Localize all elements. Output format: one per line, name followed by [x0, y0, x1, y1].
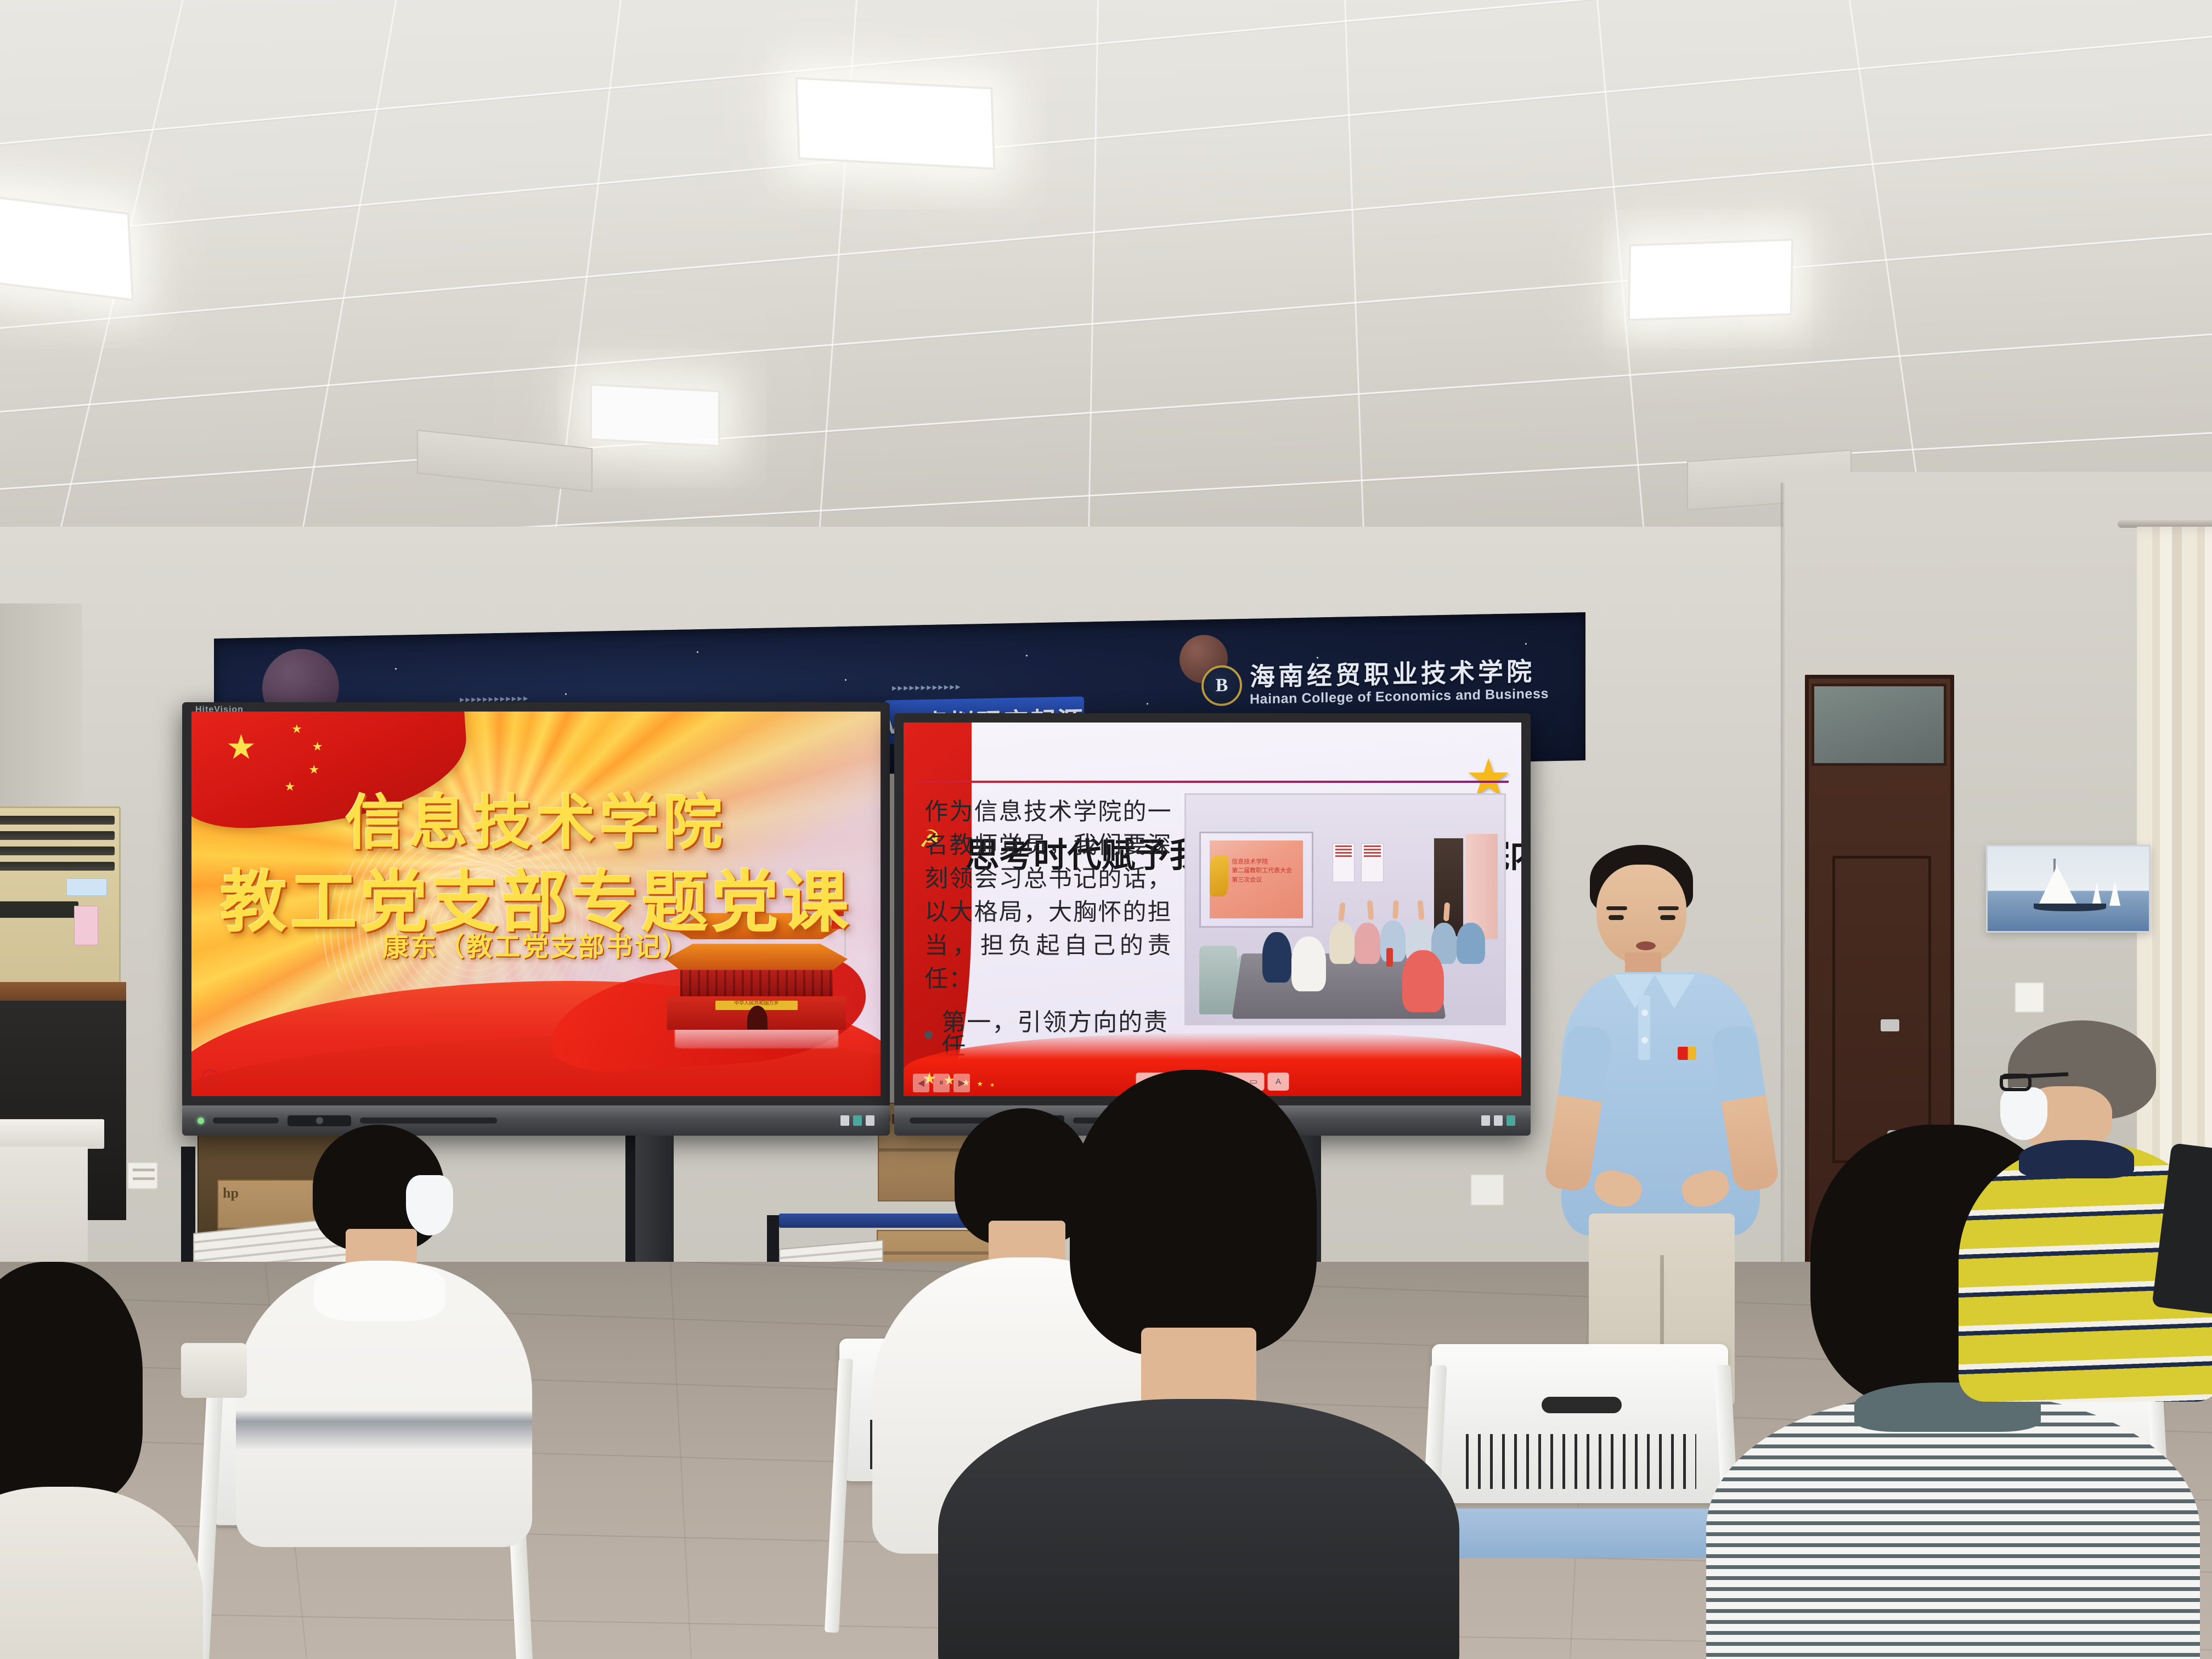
attendee-collar [2019, 1140, 2134, 1178]
pause-slide-button[interactable]: ⏸ [933, 1074, 950, 1092]
attendee-torso [1706, 1393, 2200, 1659]
wall-corner [1781, 483, 1786, 1317]
ceiling-light-panel [0, 190, 134, 301]
wall-shelf [0, 982, 126, 1001]
wall-data-port[interactable] [1470, 1174, 1504, 1206]
party-badge-icon [1678, 1047, 1696, 1060]
handbag [181, 1343, 247, 1398]
content-slide: ☭ 思考时代赋予我们的责任，推动学院内涵发展 ★ 作为信息技术学院的一名教师党员… [904, 723, 1521, 1096]
power-led-icon [198, 1118, 204, 1124]
photo-projection-screen: 信息技术学院 第二届教职工代表大会 第三次会议 [1199, 832, 1314, 928]
ac-label-sticker [66, 878, 107, 896]
air-conditioner-unit [0, 806, 121, 988]
face-mask-icon [2000, 1087, 2047, 1140]
door-lock-icon [1881, 1019, 1899, 1031]
light-switch[interactable] [2015, 982, 2044, 1013]
china-star-icon: ★ [309, 764, 320, 776]
title-divider [916, 781, 1509, 783]
slide-nav-buttons[interactable]: ◀ ⏸ ▶ [913, 1074, 970, 1092]
college-name-cn: 海南经贸职业技术学院 [1250, 658, 1549, 690]
prev-slide-button[interactable]: ◀ [913, 1074, 929, 1092]
glasses-icon [1999, 1071, 2070, 1093]
attendee-hair [0, 1262, 143, 1503]
wall-outlet[interactable] [127, 1162, 158, 1189]
wall-painting-sailboat [1986, 845, 2151, 933]
title-slide: ★ ★ ★ ★ ★ 中华人民共和国万岁 [191, 712, 881, 1096]
bullet-dot-icon [924, 1031, 933, 1039]
ceiling-light-panel [590, 383, 720, 447]
text-tool-icon[interactable]: A [1272, 1075, 1285, 1088]
attendee-hair [1070, 1070, 1317, 1355]
ceiling-light-panel [1628, 239, 1793, 321]
face-mask-icon [406, 1175, 453, 1235]
display-ports[interactable] [840, 1115, 874, 1126]
college-branding: B 海南经贸职业技术学院 Hainan College of Economics… [1201, 658, 1549, 708]
next-slide-button[interactable]: ▶ [953, 1074, 970, 1092]
photo-caption: 信息技术学院 第二届教职工代表大会 第三次会议 [1232, 857, 1292, 885]
door-transom-window [1812, 684, 1946, 766]
attendee-collar [314, 1261, 445, 1321]
left-display-screen[interactable]: ★ ★ ★ ★ ★ 中华人民共和国万岁 [191, 712, 881, 1096]
photo-wall-poster [1361, 843, 1384, 882]
photo-wall-poster [1333, 843, 1355, 882]
right-display-screen[interactable]: ☭ 思考时代赋予我们的责任，推动学院内涵发展 ★ 作为信息技术学院的一名教师党员… [904, 723, 1521, 1096]
china-star-icon: ★ [291, 723, 302, 735]
presenter-person [1558, 845, 1767, 1404]
ac-warning-sticker [74, 906, 98, 945]
slide-photo-meeting: 信息技术学院 第二届教职工代表大会 第三次会议 [1184, 793, 1506, 1025]
college-seal-icon: B [1201, 665, 1242, 706]
china-star-icon: ★ [226, 731, 257, 765]
left-interactive-display[interactable]: HiteVision ★ ★ ★ ★ ★ [182, 702, 890, 1136]
slide-subtitle-presenter: 康东（教工党支部书记） [191, 925, 881, 963]
display-camera-icon [287, 1115, 351, 1126]
classroom-photo-scene: ▸▸▸▸▸▸▸▸▸▸▸▸ VR实训室 ▸▸▸▸▸▸▸▸▸▸▸▸ VR虚拟现实起源… [0, 0, 2212, 1659]
side-desk-top [0, 1119, 104, 1149]
party-seal-icon: 党 [201, 1069, 220, 1088]
slide-paragraph: 作为信息技术学院的一名教师党员，我们要深刻领会习总书记的话，以大格局，大胸怀的担… [924, 795, 1171, 996]
ceiling-light-panel [795, 77, 995, 170]
china-star-icon: ★ [312, 741, 323, 753]
display-chin-bar [182, 1105, 890, 1136]
display-ports[interactable] [1481, 1115, 1515, 1126]
attendee-torso [938, 1399, 1459, 1659]
banner-chevrons-right: ▸▸▸▸▸▸▸▸▸▸▸▸ [892, 681, 961, 693]
door-panel [1832, 856, 1931, 1163]
